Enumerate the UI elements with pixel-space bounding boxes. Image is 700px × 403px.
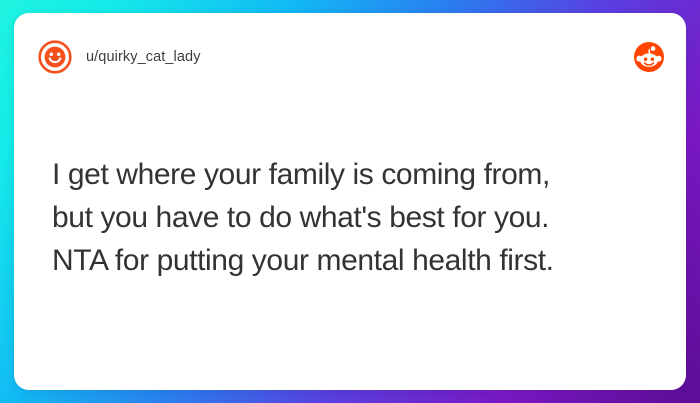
gradient-background: u/quirky_cat_lady (0, 0, 700, 403)
username-label: u/quirky_cat_lady (86, 49, 201, 65)
comment-text-line: NTA for putting your mental health first… (52, 239, 656, 282)
reddit-snoo-icon[interactable] (634, 42, 664, 72)
reddit-comment-card: u/quirky_cat_lady (14, 13, 686, 390)
smiley-face-avatar-icon[interactable] (38, 40, 72, 74)
comment-text-line: but you have to do what's best for you. (52, 196, 656, 239)
comment-header: u/quirky_cat_lady (14, 13, 686, 101)
comment-text-line: I get where your family is coming from, (52, 153, 656, 196)
comment-body: I get where your family is coming from, … (52, 153, 656, 282)
